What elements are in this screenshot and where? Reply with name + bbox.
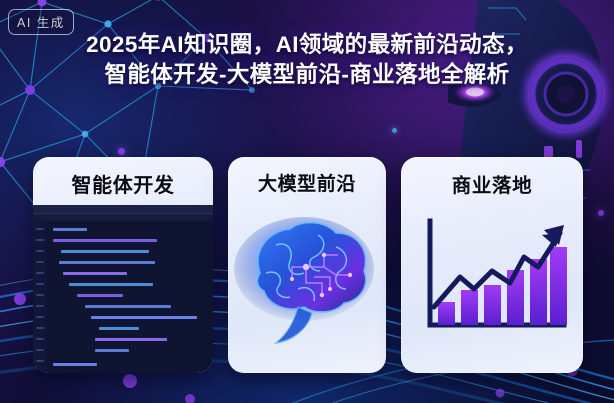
card-large-model-frontier[interactable]: 大模型前沿 <box>228 157 386 373</box>
chart-bars <box>438 247 567 325</box>
card-title-biz: 商业落地 <box>401 157 583 189</box>
growth-chart-art <box>401 199 583 373</box>
editor-titlebar <box>33 205 213 214</box>
glow-dot <box>118 148 125 155</box>
feature-card-row: 智能体开发 <box>0 157 614 375</box>
bar-chart-graphic <box>412 215 572 343</box>
card-business-landing[interactable]: 商业落地 <box>401 157 583 373</box>
editor-gutter <box>33 220 46 373</box>
card-title-model: 大模型前沿 <box>228 157 386 189</box>
code-editor-art <box>33 205 213 373</box>
poster-root: AI 生成 2025年AI知识圈，AI领域的最新前沿动态， 智能体开发-大模型前… <box>0 0 614 403</box>
headline-line-2: 智能体开发-大模型前沿-商业落地全解析 <box>26 60 588 90</box>
card-agent-development[interactable]: 智能体开发 <box>33 157 213 373</box>
editor-code-body <box>33 220 213 373</box>
brain-icon <box>232 211 382 351</box>
card-title-agent: 智能体开发 <box>33 157 213 189</box>
glow-dot <box>392 128 397 133</box>
headline-line-1: 2025年AI知识圈，AI领域的最新前沿动态， <box>86 32 528 57</box>
brain-art <box>228 197 386 373</box>
page-title: 2025年AI知识圈，AI领域的最新前沿动态， 智能体开发-大模型前沿-商业落地… <box>0 30 614 90</box>
